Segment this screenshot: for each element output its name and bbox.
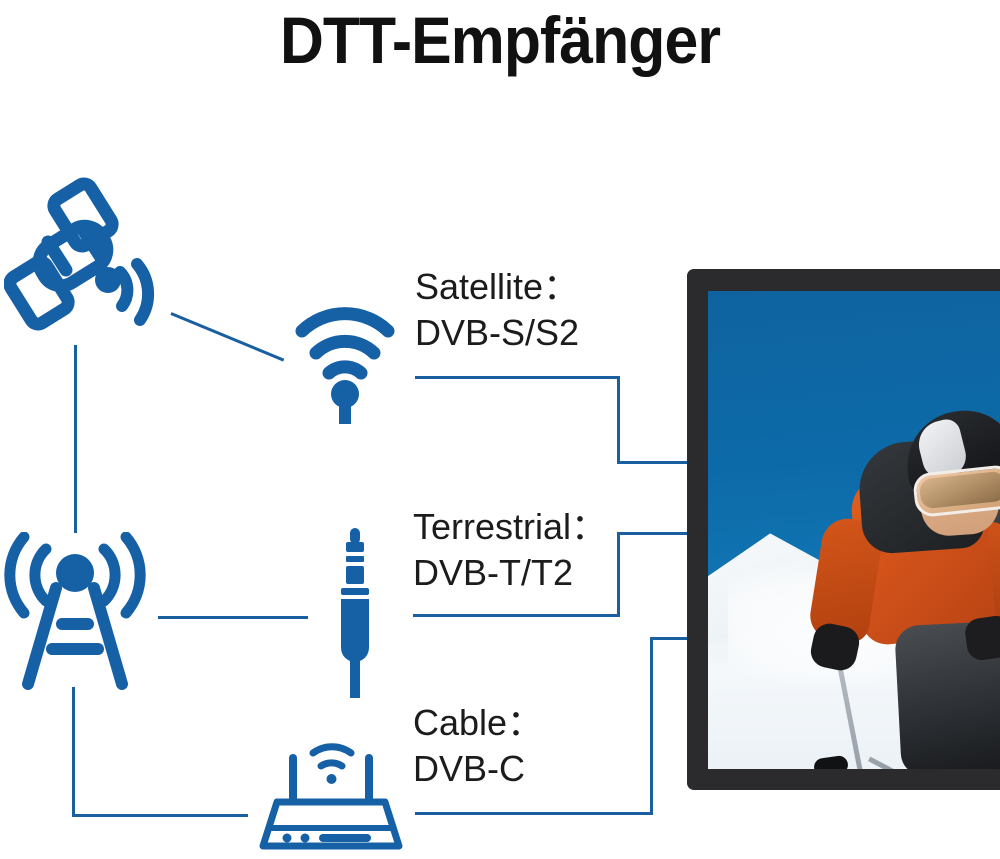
- label-cable-line2: DVB-C: [413, 746, 543, 792]
- label-cable: Cable： DVB-C: [413, 700, 543, 792]
- line-tower-to-router: [72, 814, 248, 817]
- router-icon: [255, 736, 407, 854]
- line-tower-down: [72, 687, 75, 817]
- diagram-canvas: DTT-Empfänger: [0, 0, 1000, 859]
- label-terrestrial-line2: DVB-T/T2: [413, 550, 607, 596]
- line-terrestrial-h1: [413, 614, 620, 617]
- page-title: DTT-Empfänger: [40, 2, 960, 78]
- line-cable-h1: [415, 812, 653, 815]
- label-satellite: Satellite： DVB-S/S2: [415, 264, 579, 356]
- label-cable-line1: Cable：: [413, 700, 543, 746]
- line-terrestrial-v: [617, 532, 620, 617]
- line-cable-v: [650, 637, 653, 815]
- line-tower-to-plug: [158, 616, 308, 619]
- signal-waves-icon: [295, 296, 395, 424]
- line-terrestrial-h2: [617, 532, 692, 535]
- line-satellite-h2: [617, 461, 692, 464]
- line-satellite-to-tower: [74, 345, 77, 533]
- tv-screen: [708, 291, 1000, 769]
- label-satellite-line1: Satellite：: [415, 264, 579, 310]
- radio-tower-icon: [2, 532, 148, 692]
- line-satellite-h1: [415, 376, 620, 379]
- label-terrestrial: Terrestrial： DVB-T/T2: [413, 504, 607, 596]
- line-cable-h2: [650, 637, 692, 640]
- satellite-icon: [4, 168, 184, 338]
- line-satellite-to-signal: [170, 312, 284, 361]
- coaxial-plug-icon: [330, 528, 380, 698]
- label-terrestrial-line1: Terrestrial：: [413, 504, 607, 550]
- tv-display: [687, 269, 1000, 790]
- label-satellite-line2: DVB-S/S2: [415, 310, 579, 356]
- line-satellite-v: [617, 376, 620, 464]
